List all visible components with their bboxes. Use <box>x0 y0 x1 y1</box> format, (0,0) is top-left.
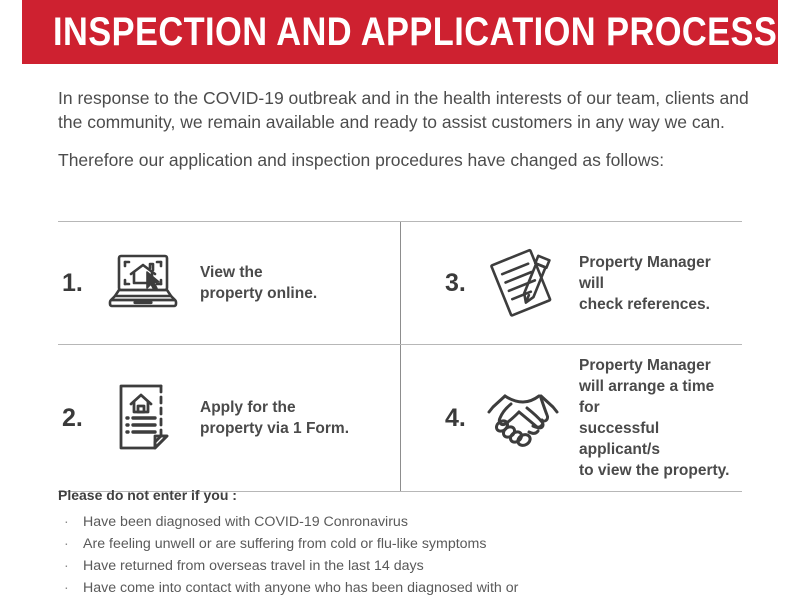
document-pen-icon <box>481 247 565 319</box>
step-number-2: 2. <box>62 404 100 433</box>
step-number-3: 3. <box>445 269 481 298</box>
bullet-icon: · <box>64 534 69 554</box>
intro-paragraph-1: In response to the COVID-19 outbreak and… <box>58 86 758 134</box>
step-number-4: 4. <box>445 404 481 433</box>
step-text-1-line-1: View the <box>200 262 317 283</box>
step-number-1: 1. <box>62 269 100 298</box>
step-item-4: 4. <box>400 345 742 491</box>
step-text-2-line-2: property via 1 Form. <box>200 418 349 439</box>
step-text-2-line-1: Apply for the <box>200 397 349 418</box>
list-item: ·Have been diagnosed with COVID-19 Conro… <box>58 512 718 532</box>
bullet-icon: · <box>64 578 69 598</box>
list-item: ·Are feeling unwell or are suffering fro… <box>58 534 718 554</box>
step-item-1: 1. <box>58 222 400 344</box>
document-house-form-icon <box>100 380 186 456</box>
step-text-1-line-2: property online. <box>200 283 317 304</box>
warning-list: ·Have been diagnosed with COVID-19 Conro… <box>58 512 718 600</box>
bullet-icon: · <box>64 556 69 576</box>
step-text-3: Property Manager will check references. <box>565 252 738 315</box>
step-text-4-line-3: successful applicant/s <box>579 418 738 460</box>
page-title: INSPECTION AND APPLICATION PROCESS. <box>22 12 778 52</box>
list-item: ·Have returned from overseas travel in t… <box>58 556 718 576</box>
intro-section: In response to the COVID-19 outbreak and… <box>58 86 758 186</box>
intro-paragraph-2: Therefore our application and inspection… <box>58 148 758 172</box>
list-item: ·Have come into contact with anyone who … <box>58 578 718 600</box>
list-item-text: Have returned from overseas travel in th… <box>83 558 424 574</box>
step-text-4-line-2: will arrange a time for <box>579 376 738 418</box>
warning-section: Please do not enter if you : ·Have been … <box>58 487 718 600</box>
bullet-icon: · <box>64 512 69 532</box>
list-item-text: Are feeling unwell or are suffering from… <box>83 536 486 552</box>
laptop-house-cursor-icon <box>100 252 186 314</box>
steps-row-bottom: 2. <box>58 345 742 492</box>
step-item-2: 2. <box>58 345 400 491</box>
header-banner: INSPECTION AND APPLICATION PROCESS. <box>22 0 778 64</box>
step-text-1: View the property online. <box>186 262 317 304</box>
step-text-3-line-2: check references. <box>579 294 738 315</box>
step-text-3-line-1: Property Manager will <box>579 252 738 294</box>
steps-row-top: 1. <box>58 222 742 345</box>
step-item-3: 3. <box>400 222 742 344</box>
list-item-text: Have come into contact with anyone who h… <box>83 580 518 596</box>
list-item-text: Have been diagnosed with COVID-19 Conron… <box>83 514 408 530</box>
warning-title: Please do not enter if you : <box>58 487 718 503</box>
poster-page: INSPECTION AND APPLICATION PROCESS. In r… <box>0 0 800 600</box>
step-text-2: Apply for the property via 1 Form. <box>186 397 349 439</box>
step-text-4: Property Manager will arrange a time for… <box>565 355 738 481</box>
handshake-icon <box>481 382 565 454</box>
step-text-4-line-4: to view the property. <box>579 460 738 481</box>
steps-grid: 1. <box>58 221 742 492</box>
step-text-4-line-1: Property Manager <box>579 355 738 376</box>
